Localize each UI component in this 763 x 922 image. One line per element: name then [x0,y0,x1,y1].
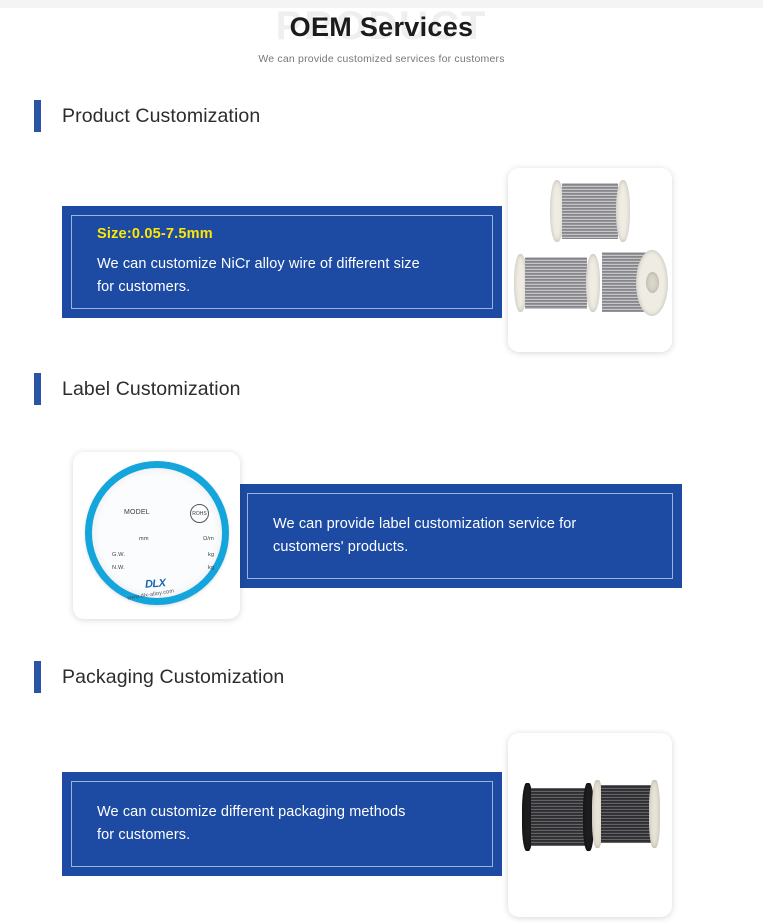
info-box-inner: We can provide label customization servi… [247,493,673,579]
spool-flange [649,780,660,848]
spool-barrel [525,257,587,309]
wire-spool-icon-1 [550,180,630,242]
section-title-label-customization: Label Customization [62,378,241,401]
wire-spool-icon-2 [514,254,600,312]
info-box-text-line-2: customers' products. [273,536,647,559]
info-box-text-line-2: for customers. [97,276,467,299]
photo-card-round-product-label: MODEL ROHS mm Ω/m G.W. kg N.W. kg DLX ww… [73,452,240,619]
rohs-icon: ROHS [190,504,209,523]
section-heading-packaging-customization: Packaging Customization [34,661,284,693]
oem-services-page: PRODUCT OEM Services We can provide cust… [0,0,763,922]
rohs-label: ROHS [192,511,206,517]
page-title: OEM Services [0,6,763,48]
wire-spool-icon-white [592,780,660,848]
spool-barrel [531,788,585,846]
spool-flange [586,254,600,312]
info-box-inner: We can customize different packaging met… [71,781,493,867]
accent-bar-icon [34,100,41,132]
info-box-inner: Size:0.05-7.5mm We can customize NiCr al… [71,215,493,309]
info-box-product-customization: Size:0.05-7.5mm We can customize NiCr al… [62,206,502,318]
round-label-icon: MODEL ROHS mm Ω/m G.W. kg N.W. kg DLX ww… [85,461,229,605]
label-field-kg-1: kg [208,552,214,558]
info-box-packaging-customization: We can customize different packaging met… [62,772,502,876]
accent-bar-icon [34,373,41,405]
wire-spool-icon-black [522,783,594,851]
info-box-text-line-1: We can customize different packaging met… [97,801,467,824]
label-field-net-weight: N.W. [112,565,125,571]
page-subtitle: We can provide customized services for c… [0,53,763,65]
dlx-logo: DLX [145,577,166,590]
spool-barrel [562,183,618,239]
label-field-gross-weight: G.W. [112,552,125,558]
section-heading-product-customization: Product Customization [34,100,260,132]
section-heading-label-customization: Label Customization [34,373,241,405]
label-field-model: MODEL [124,509,150,516]
info-box-text-line-2: for customers. [97,824,467,847]
photo-card-packaging-spools [508,733,672,917]
spool-flange [616,180,630,242]
info-box-heading-size: Size:0.05-7.5mm [97,226,467,242]
label-field-ohm-per-m: Ω/m [203,536,214,542]
photo-card-nicr-wire-spools [508,168,672,352]
info-box-text-line-1: We can customize NiCr alloy wire of diff… [97,253,467,276]
spool-barrel [601,785,652,843]
label-field-kg-2: kg [208,565,214,571]
spool-hub [646,272,659,293]
wire-spool-icon-3 [602,250,668,316]
page-header: PRODUCT OEM Services We can provide cust… [0,6,763,65]
label-field-mm: mm [139,536,149,542]
section-title-packaging-customization: Packaging Customization [62,666,284,689]
info-box-text-line-1: We can provide label customization servi… [273,513,647,536]
section-title-product-customization: Product Customization [62,105,260,128]
info-box-label-customization: We can provide label customization servi… [238,484,682,588]
accent-bar-icon [34,661,41,693]
